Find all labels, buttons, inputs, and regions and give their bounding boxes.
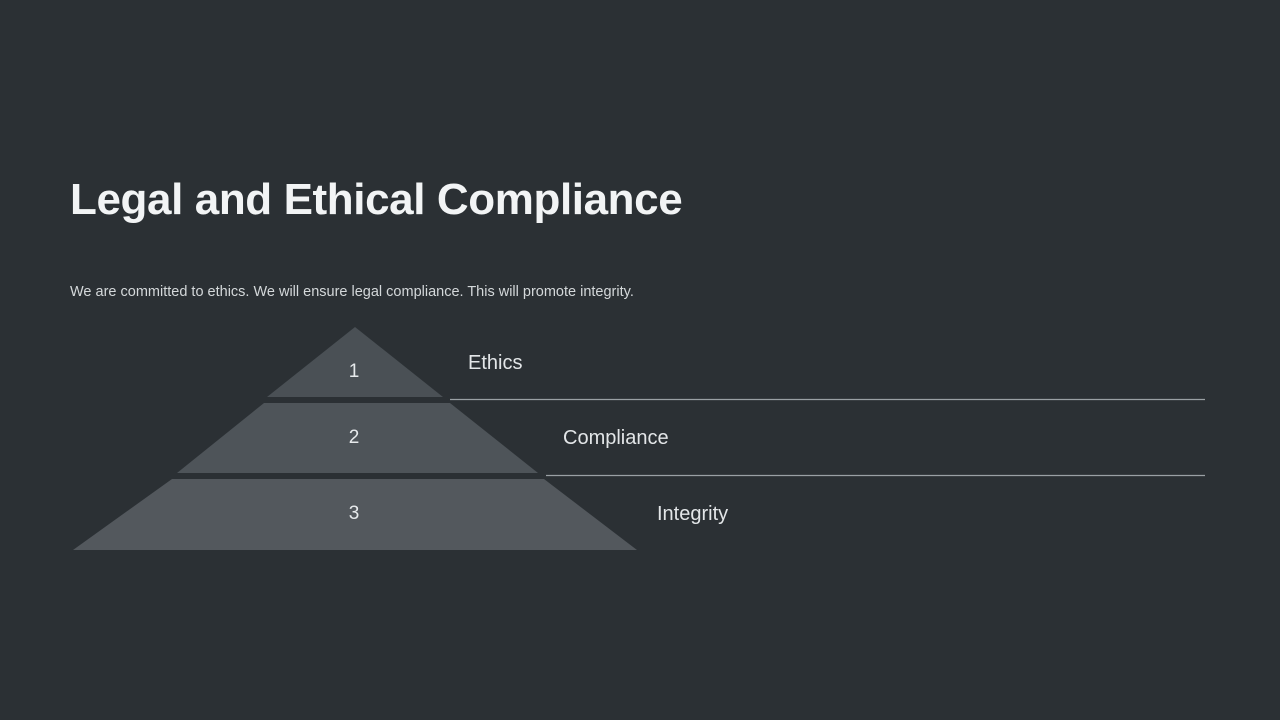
pyramid-tier-2-label: Compliance: [563, 425, 669, 451]
slide-canvas: Legal and Ethical Compliance We are comm…: [0, 0, 1280, 720]
pyramid-tier-1-number: 1: [324, 360, 384, 384]
pyramid-diagram: 1 2 3 Ethics Compliance Integrity: [0, 0, 1280, 720]
pyramid-tier-2-number: 2: [324, 426, 384, 450]
pyramid-tier-1-label: Ethics: [468, 350, 522, 376]
pyramid-tier-3-number: 3: [324, 502, 384, 526]
pyramid-tier-3-label: Integrity: [657, 501, 728, 527]
pyramid-graphic: [0, 0, 1280, 720]
